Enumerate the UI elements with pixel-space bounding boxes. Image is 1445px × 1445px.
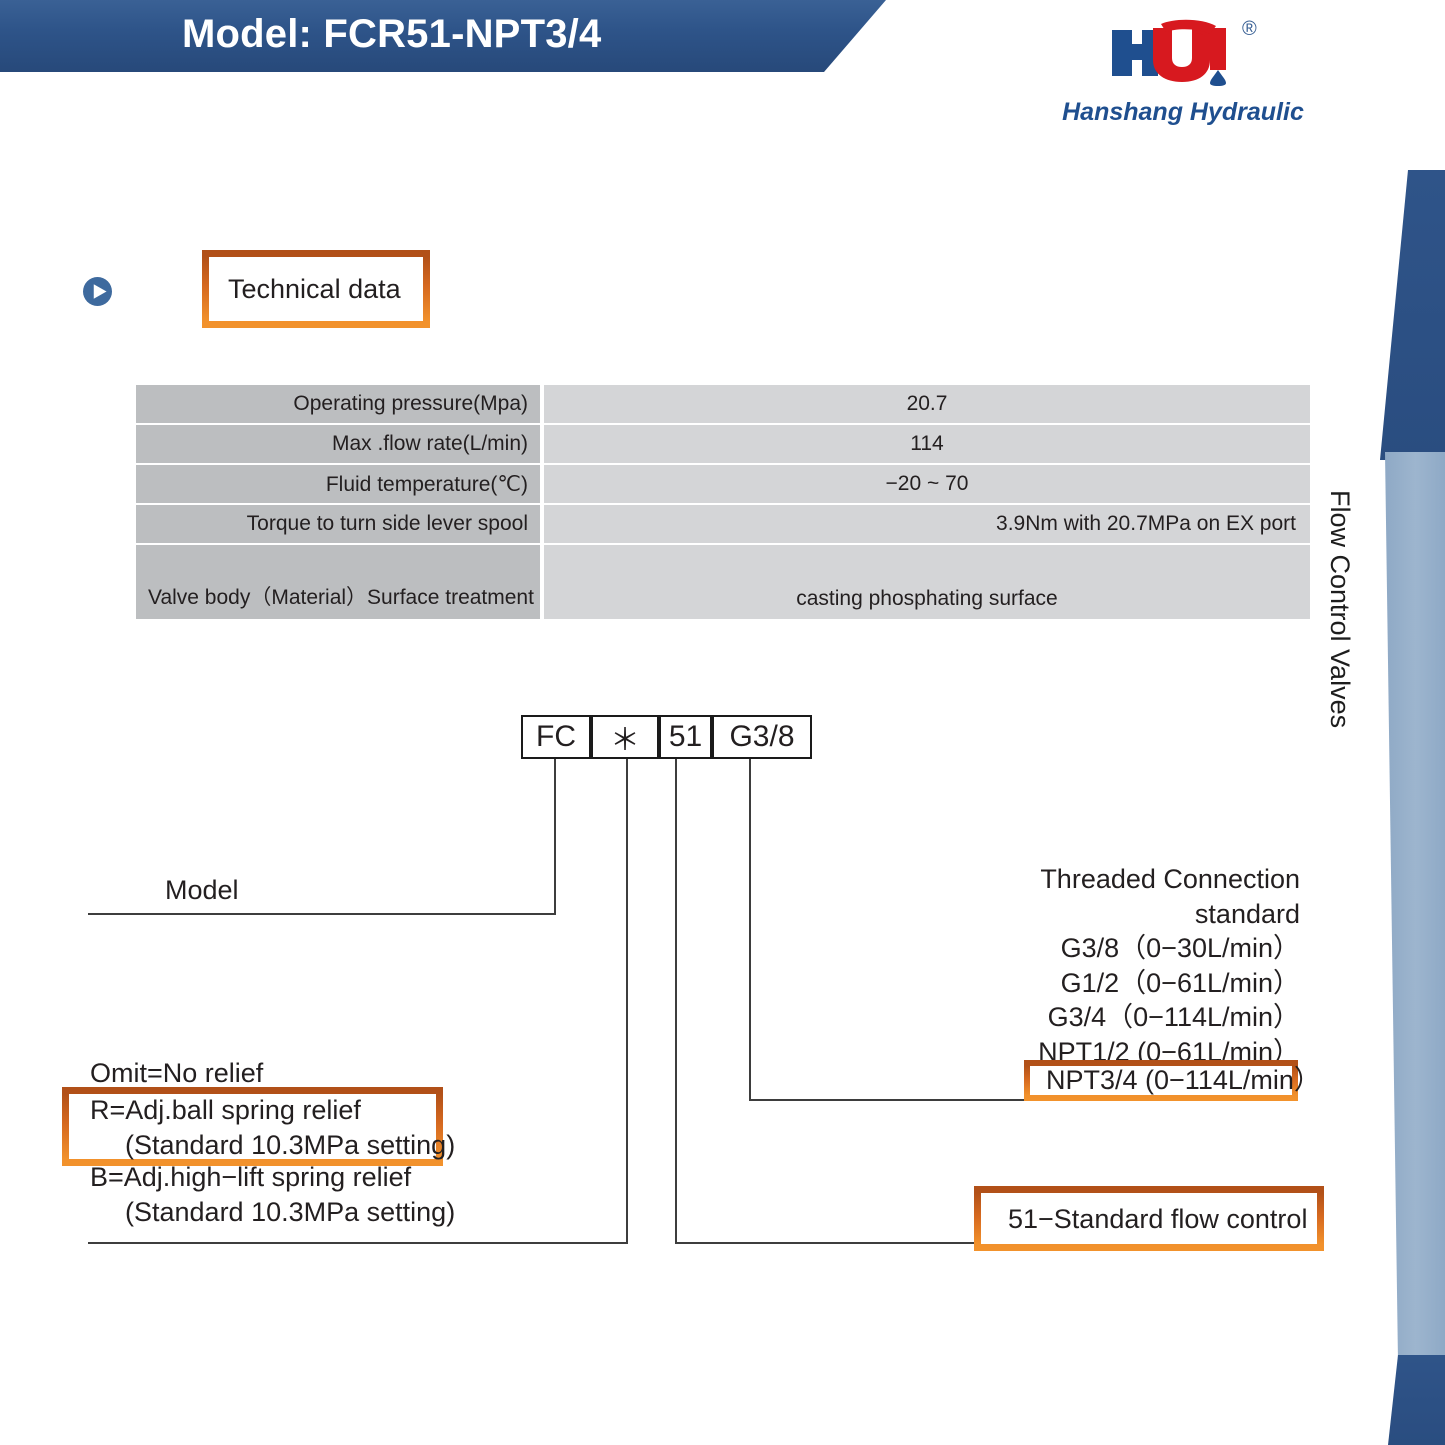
table-row: Valve body（Material）Surface treatment ca… (136, 545, 1310, 619)
code-box-thread: G3/8 (712, 715, 812, 759)
leader-line-relief-horizontal (88, 1242, 628, 1244)
threaded-option-g34: G3/4（0−114L/min） (960, 1000, 1300, 1035)
table-cell-value: 20.7 (544, 385, 1310, 423)
table-row: Torque to turn side lever spool 3.9Nm wi… (136, 505, 1310, 543)
callout-model-label: Model (165, 873, 239, 908)
relief-r-line2: (Standard 10.3MPa setting) (90, 1128, 455, 1163)
table-row: Fluid temperature(℃) −20 ~ 70 (136, 465, 1310, 503)
play-circle-icon (82, 276, 113, 307)
sidebar-category-label: Flow Control Valves (1324, 490, 1355, 820)
leader-line-thread-vertical (749, 759, 751, 1101)
table-cell-key: Valve body（Material）Surface treatment (136, 545, 540, 619)
leader-line-relief-vertical (626, 759, 628, 1244)
table-cell-value: 3.9Nm with 20.7MPa on EX port (544, 505, 1310, 543)
table-cell-key: Max .flow rate(L/min) (136, 425, 540, 463)
section-heading-technical-data: Technical data (228, 274, 401, 305)
leader-line-series-vertical (675, 759, 677, 1244)
sidebar-top-block (1380, 170, 1445, 460)
hanshang-logo-mark (1106, 14, 1256, 86)
callout-relief-omit: Omit=No relief (90, 1056, 263, 1091)
callout-standard-flow-control: 51−Standard flow control (1008, 1202, 1307, 1237)
table-row: Max .flow rate(L/min) 114 (136, 425, 1310, 463)
table-cell-key: Torque to turn side lever spool (136, 505, 540, 543)
threaded-option-g38: G3/8（0−30L/min） (960, 931, 1300, 966)
table-row: Operating pressure(Mpa) 20.7 (136, 385, 1310, 423)
callout-threaded-connection: Threaded Connection standard G3/8（0−30L/… (960, 862, 1300, 1069)
table-cell-value: casting phosphating surface (544, 545, 1310, 619)
threaded-option-npt34: NPT3/4 (0−114L/min） (1046, 1063, 1321, 1098)
threaded-title-line2: standard (960, 897, 1300, 932)
relief-b-line2: (Standard 10.3MPa setting) (90, 1195, 455, 1230)
sidebar-bottom-block (1380, 1355, 1445, 1445)
sidebar-mid-block (1380, 452, 1445, 1362)
logo-brand-text: Hanshang Hydraulic (1058, 98, 1308, 127)
threaded-option-g12: G1/2（0−61L/min） (960, 966, 1300, 1001)
page-title: Model: FCR51-NPT3/4 (182, 12, 601, 57)
leader-line-model-horizontal (88, 913, 556, 915)
leader-line-series-horizontal (675, 1242, 993, 1244)
callout-relief-b: B=Adj.high−lift spring relief (Standard … (90, 1160, 455, 1229)
threaded-title-line1: Threaded Connection (960, 862, 1300, 897)
relief-b-line1: B=Adj.high−lift spring relief (90, 1162, 411, 1192)
relief-r-line1: R=Adj.ball spring relief (90, 1095, 361, 1125)
table-cell-value: −20 ~ 70 (544, 465, 1310, 503)
company-logo: ® Hanshang Hydraulic (1058, 14, 1308, 139)
leader-line-model-vertical (554, 759, 556, 915)
table-cell-value: 114 (544, 425, 1310, 463)
registered-trademark-icon: ® (1242, 19, 1257, 39)
page-root: Model: FCR51-NPT3/4 ® Hanshang Hydraulic… (0, 0, 1445, 1445)
code-box-model: FC (521, 715, 591, 759)
code-box-series: 51 (659, 715, 712, 759)
code-box-relief: ＊ (591, 715, 659, 759)
table-cell-key: Fluid temperature(℃) (136, 465, 540, 503)
table-cell-key: Operating pressure(Mpa) (136, 385, 540, 423)
technical-data-table: Operating pressure(Mpa) 20.7 Max .flow r… (136, 385, 1310, 621)
callout-relief-r: R=Adj.ball spring relief (Standard 10.3M… (90, 1093, 455, 1162)
